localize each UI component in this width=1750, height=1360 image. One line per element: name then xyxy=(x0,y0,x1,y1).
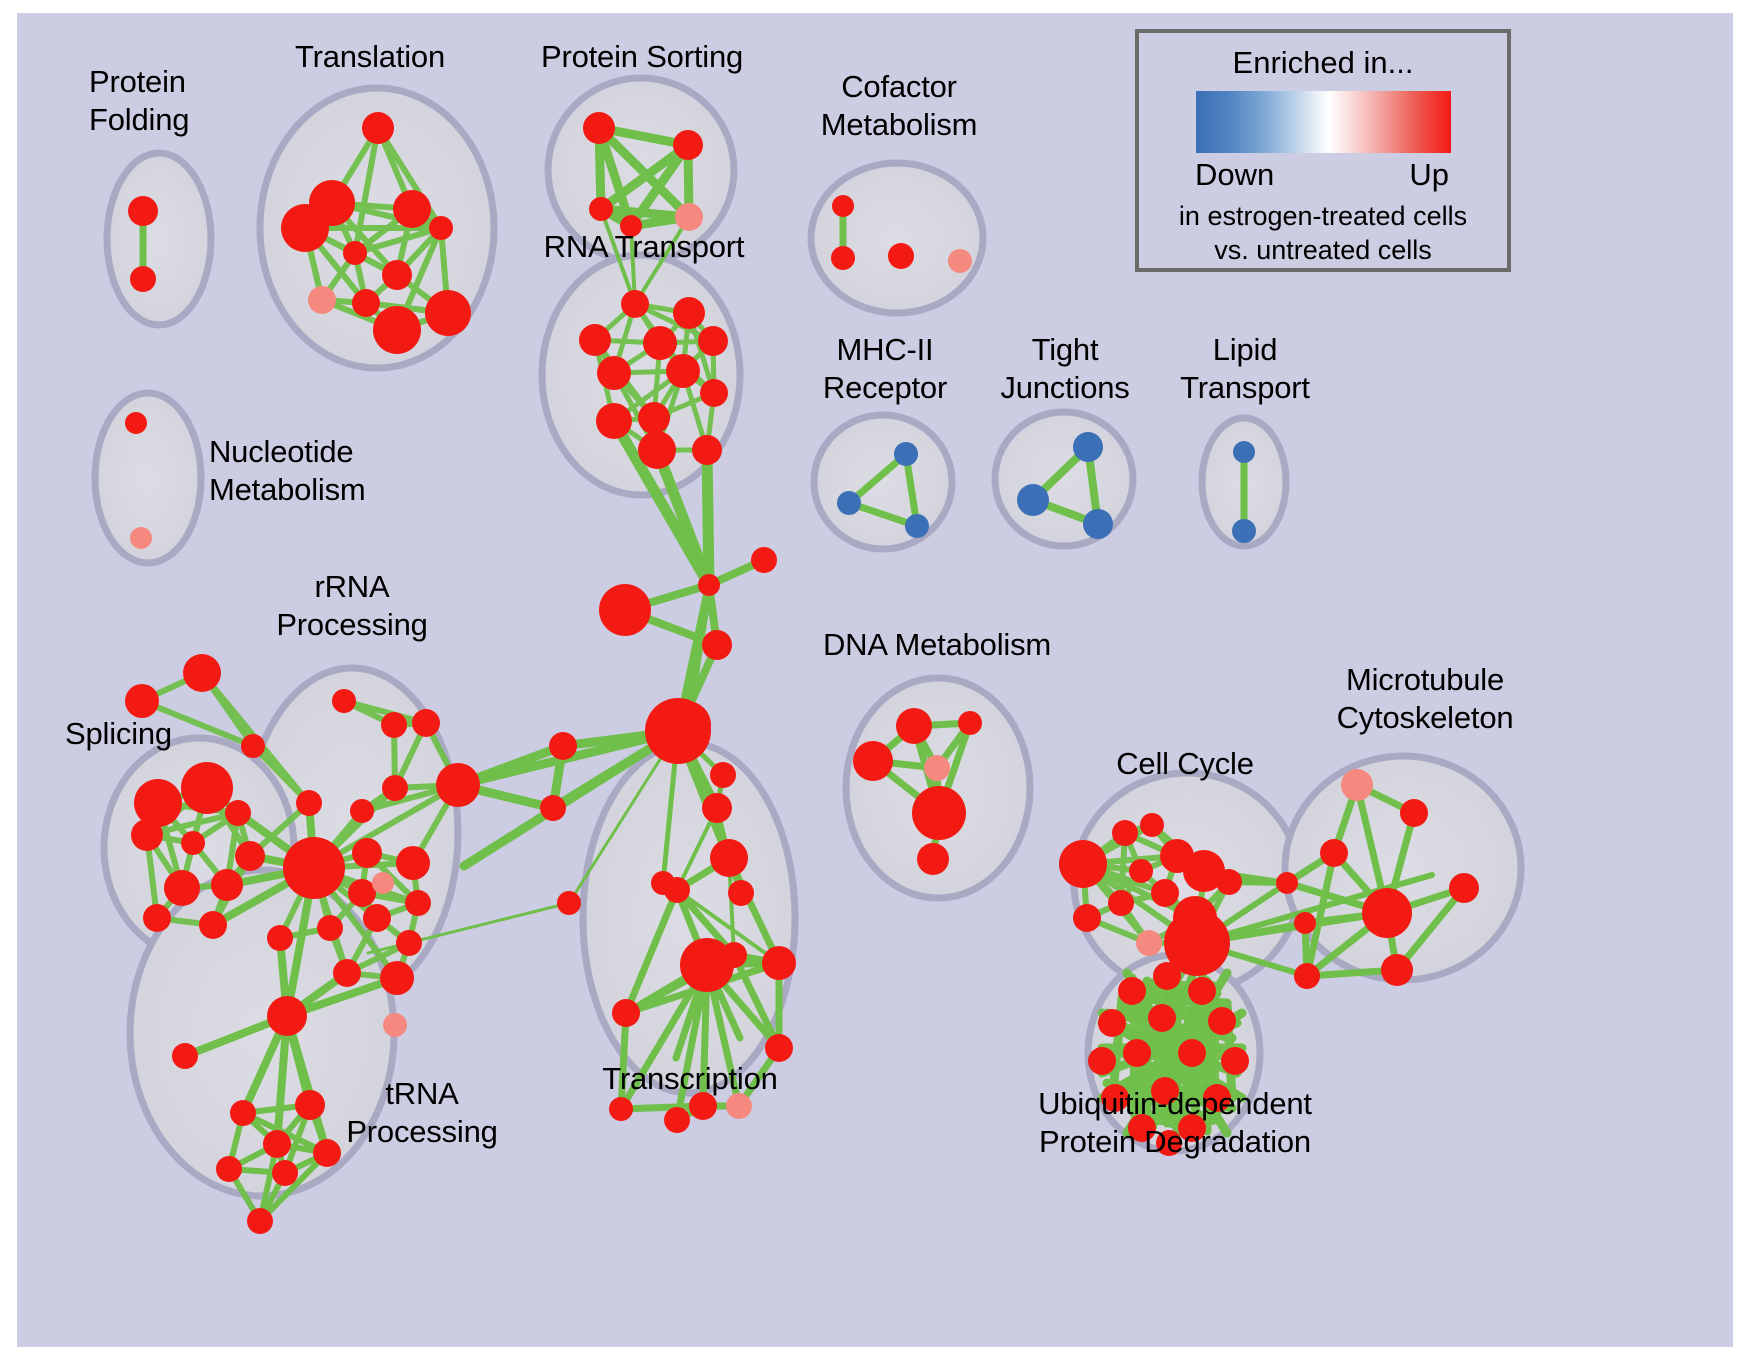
legend-caption: in estrogen-treated cells vs. untreated … xyxy=(1139,199,1507,267)
legend-up-label: Up xyxy=(1409,157,1449,193)
label-splicing: Splicing xyxy=(65,715,172,753)
label-nucleotide-metabolism: NucleotideMetabolism xyxy=(209,433,366,509)
halo-microtubule xyxy=(1285,756,1521,980)
label-rna-transport: RNA Transport xyxy=(509,228,779,266)
color-legend: Enriched in... Down Up in estrogen-treat… xyxy=(1135,29,1511,272)
label-tight-junctions: TightJunctions xyxy=(967,331,1163,407)
label-protein-sorting: Protein Sorting xyxy=(507,38,777,76)
label-trna-processing: tRNAProcessing xyxy=(307,1075,537,1151)
label-rrna-processing: rRNAProcessing xyxy=(241,568,463,644)
label-microtubule-cytoskeleton: MicrotubuleCytoskeleton xyxy=(1295,661,1555,737)
figure-canvas: ProteinFolding Translation Protein Sorti… xyxy=(0,0,1750,1360)
legend-gradient-bar xyxy=(1196,91,1451,153)
nodes-middle-chain xyxy=(599,547,777,764)
legend-caption-line2: vs. untreated cells xyxy=(1214,235,1432,265)
halo-mhc2 xyxy=(814,415,952,549)
legend-caption-line1: in estrogen-treated cells xyxy=(1179,201,1467,231)
legend-down-label: Down xyxy=(1195,157,1274,193)
label-dna-metabolism: DNA Metabolism xyxy=(807,626,1067,664)
network-plot-area: ProteinFolding Translation Protein Sorti… xyxy=(17,13,1733,1347)
label-translation: Translation xyxy=(245,38,495,76)
label-cofactor-metabolism: CofactorMetabolism xyxy=(779,68,1019,144)
legend-endpoint-labels: Down Up xyxy=(1195,157,1449,197)
label-protein-folding: ProteinFolding xyxy=(89,63,189,139)
label-transcription: Transcription xyxy=(565,1060,815,1098)
legend-title: Enriched in... xyxy=(1139,45,1507,81)
label-ubiquitin-degradation: Ubiquitin-dependentProtein Degradation xyxy=(975,1085,1375,1161)
label-cell-cycle: Cell Cycle xyxy=(1085,745,1285,783)
halo-cofactor xyxy=(811,163,983,313)
label-lipid-transport: LipidTransport xyxy=(1145,331,1345,407)
label-mhc-ii-receptor: MHC-IIReceptor xyxy=(785,331,985,407)
halo-protein-folding xyxy=(107,153,211,325)
